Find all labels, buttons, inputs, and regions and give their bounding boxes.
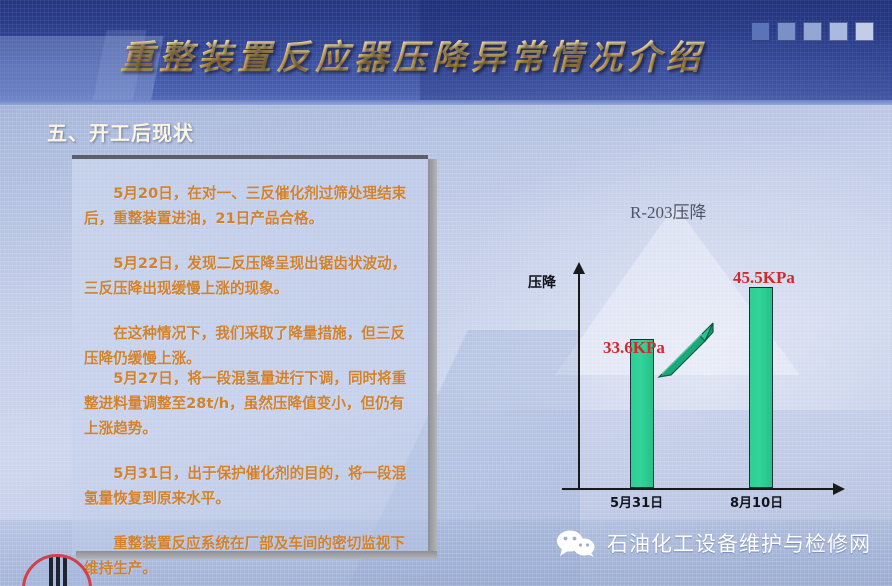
chart-y-axis-arrow-icon — [573, 262, 585, 274]
slide-canvas: 重整装置反应器压降异常情况介绍 五、开工后现状 5月20日，在对一、三反催化剂过… — [0, 0, 892, 586]
textbox-shadow-right — [428, 159, 437, 555]
decor-square-3 — [803, 22, 822, 41]
slide-header: 重整装置反应器压降异常情况介绍 — [0, 0, 892, 105]
decor-square-1 — [751, 22, 770, 41]
body-paragraph: 在这种情况下，我们采取了降量措施，但三反压降仍缓慢上涨。 — [84, 321, 418, 371]
header-underline — [0, 100, 892, 105]
logo-bar-2 — [56, 554, 60, 586]
body-textbox: 5月20日，在对一、三反催化剂过筛处理结束后，重整装置进油，21日产品合格。 5… — [72, 155, 428, 555]
chart-x-tick-label: 5月31日 — [610, 492, 663, 511]
textbox-shadow-bottom — [76, 551, 437, 559]
chart-bar — [630, 339, 654, 488]
chart-y-axis-line — [578, 272, 580, 490]
chart-x-axis-line — [562, 488, 834, 490]
footer-watermark: 石油化工设备维护与检修网 — [556, 528, 871, 558]
decor-square-4 — [829, 22, 848, 41]
logo-bar-3 — [63, 554, 67, 586]
chart-value-label: 45.5KPa — [733, 268, 795, 288]
chart-y-axis-label: 压降 — [528, 272, 556, 292]
body-paragraph: 5月31日，出于保护催化剂的目的，将一段混氢量恢复到原来水平。 — [84, 461, 418, 511]
chart-x-axis-arrow-icon — [833, 483, 845, 495]
decor-square-2 — [777, 22, 796, 41]
body-paragraph: 5月20日，在对一、三反催化剂过筛处理结束后，重整装置进油，21日产品合格。 — [84, 181, 418, 231]
footer-site-name: 石油化工设备维护与检修网 — [607, 528, 871, 558]
chart-bar — [749, 287, 773, 488]
decor-square-5 — [855, 22, 874, 41]
pressure-drop-bar-chart: R-203压降 压降 33.6KPa 45.5KPa 5月31日 8月10日 — [500, 190, 890, 520]
header-square-decoration — [751, 22, 874, 41]
slide-title: 重整装置反应器压降异常情况介绍 — [120, 30, 705, 79]
wechat-icon — [556, 530, 596, 557]
chart-title: R-203压降 — [630, 198, 707, 223]
logo-bar-1 — [49, 554, 53, 586]
body-paragraph: 5月22日，发现二反压降呈现出锯齿状波动，三反压降出现缓慢上涨的现象。 — [84, 251, 418, 301]
trend-up-arrow-icon — [656, 318, 718, 380]
section-heading: 五、开工后现状 — [47, 117, 194, 146]
chart-x-tick-label: 8月10日 — [730, 492, 783, 511]
body-paragraph: 5月27日，将一段混氢量进行下调，同时将重整进料量调整至28t/h，虽然压降值变… — [84, 366, 418, 441]
